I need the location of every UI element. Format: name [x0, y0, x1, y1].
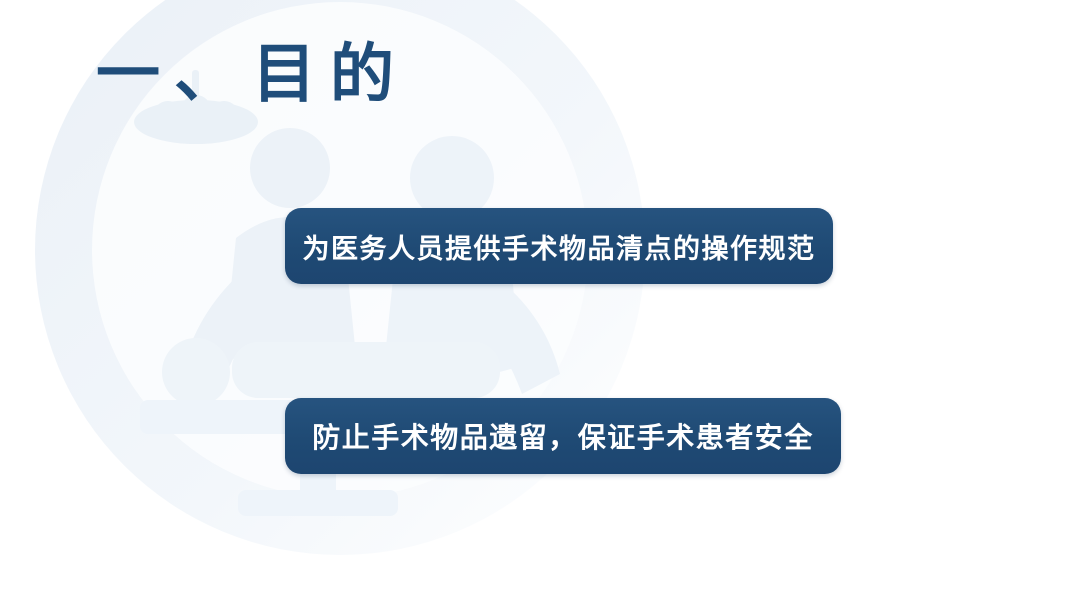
content-box-1: 为医务人员提供手术物品清点的操作规范: [285, 208, 833, 284]
content-box-1-label: 为医务人员提供手术物品清点的操作规范: [303, 227, 816, 266]
content-box-2: 防止手术物品遗留，保证手术患者安全: [285, 398, 841, 474]
content-box-2-label: 防止手术物品遗留，保证手术患者安全: [312, 416, 814, 456]
slide-title: 一、目的: [96, 42, 408, 106]
patient-icon: [162, 338, 500, 406]
presentation-slide: 一、目的 为医务人员提供手术物品清点的操作规范 防止手术物品遗留，保证手术患者安…: [0, 0, 1080, 608]
